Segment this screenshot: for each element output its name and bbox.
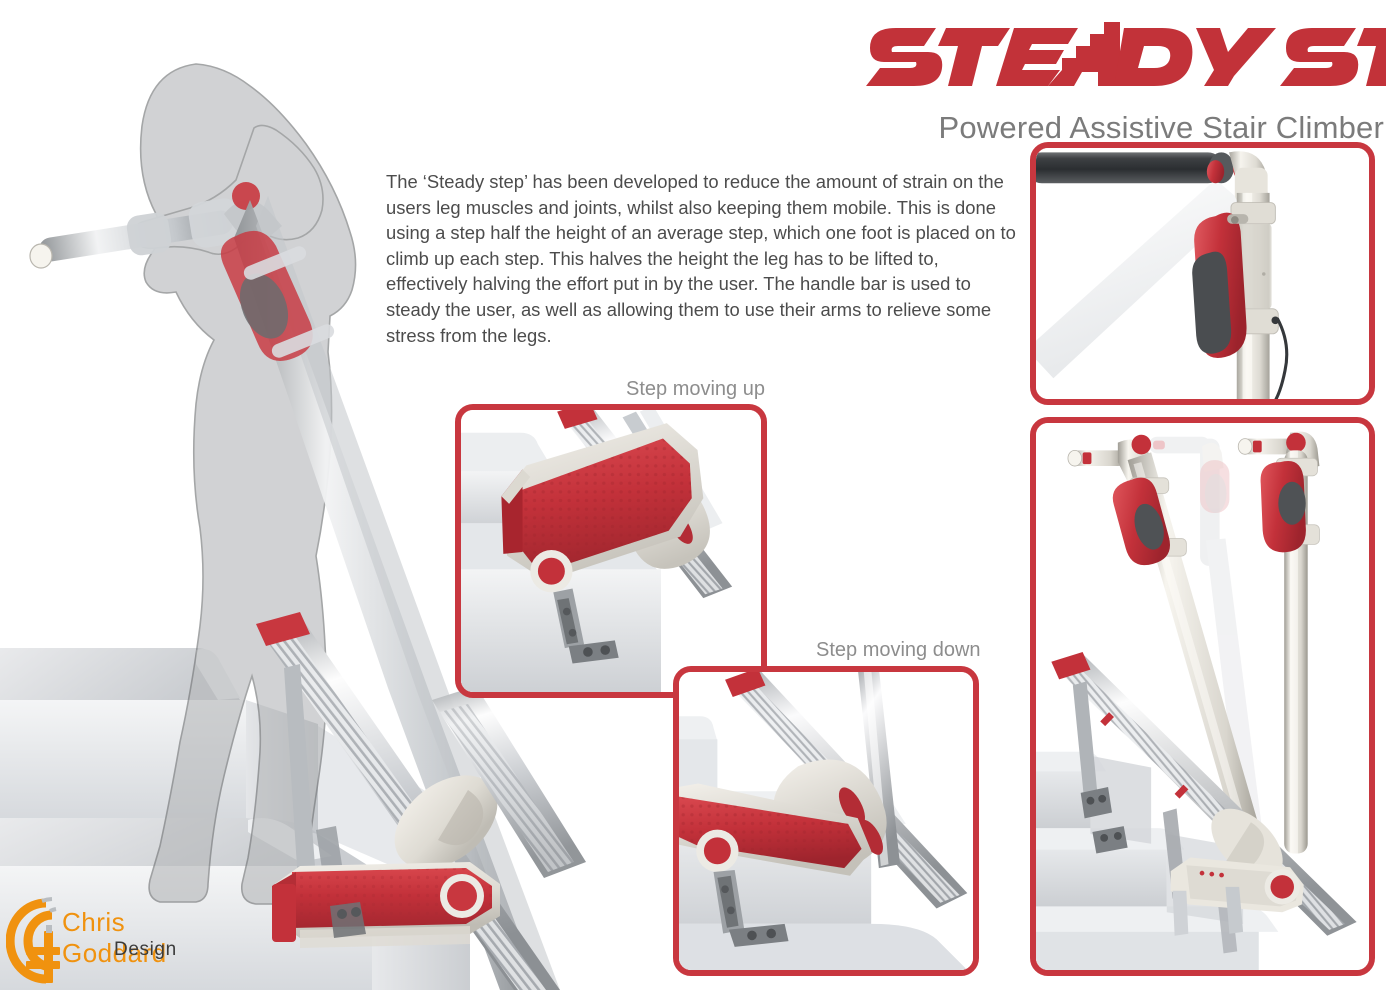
- handle-angles-render: [1036, 423, 1369, 970]
- panel-handle-trigger-detail[interactable]: [1030, 142, 1375, 405]
- handle-trigger-render: [1036, 148, 1369, 399]
- panel-step-moving-up[interactable]: [455, 404, 767, 698]
- label-step-moving-up: Step moving up: [626, 378, 765, 401]
- step-moving-down-render: [679, 672, 973, 970]
- label-step-moving-down: Step moving down: [816, 639, 981, 662]
- panel-step-moving-down[interactable]: [673, 666, 979, 976]
- step-moving-up-render: [461, 410, 761, 692]
- design-board: Powered Assistive Stair Climber The ‘Ste…: [0, 0, 1400, 990]
- designer-signature: Chris Goddard Design: [6, 895, 236, 987]
- panel-handle-angle-positions[interactable]: [1030, 417, 1375, 976]
- designer-role: Design: [114, 939, 177, 961]
